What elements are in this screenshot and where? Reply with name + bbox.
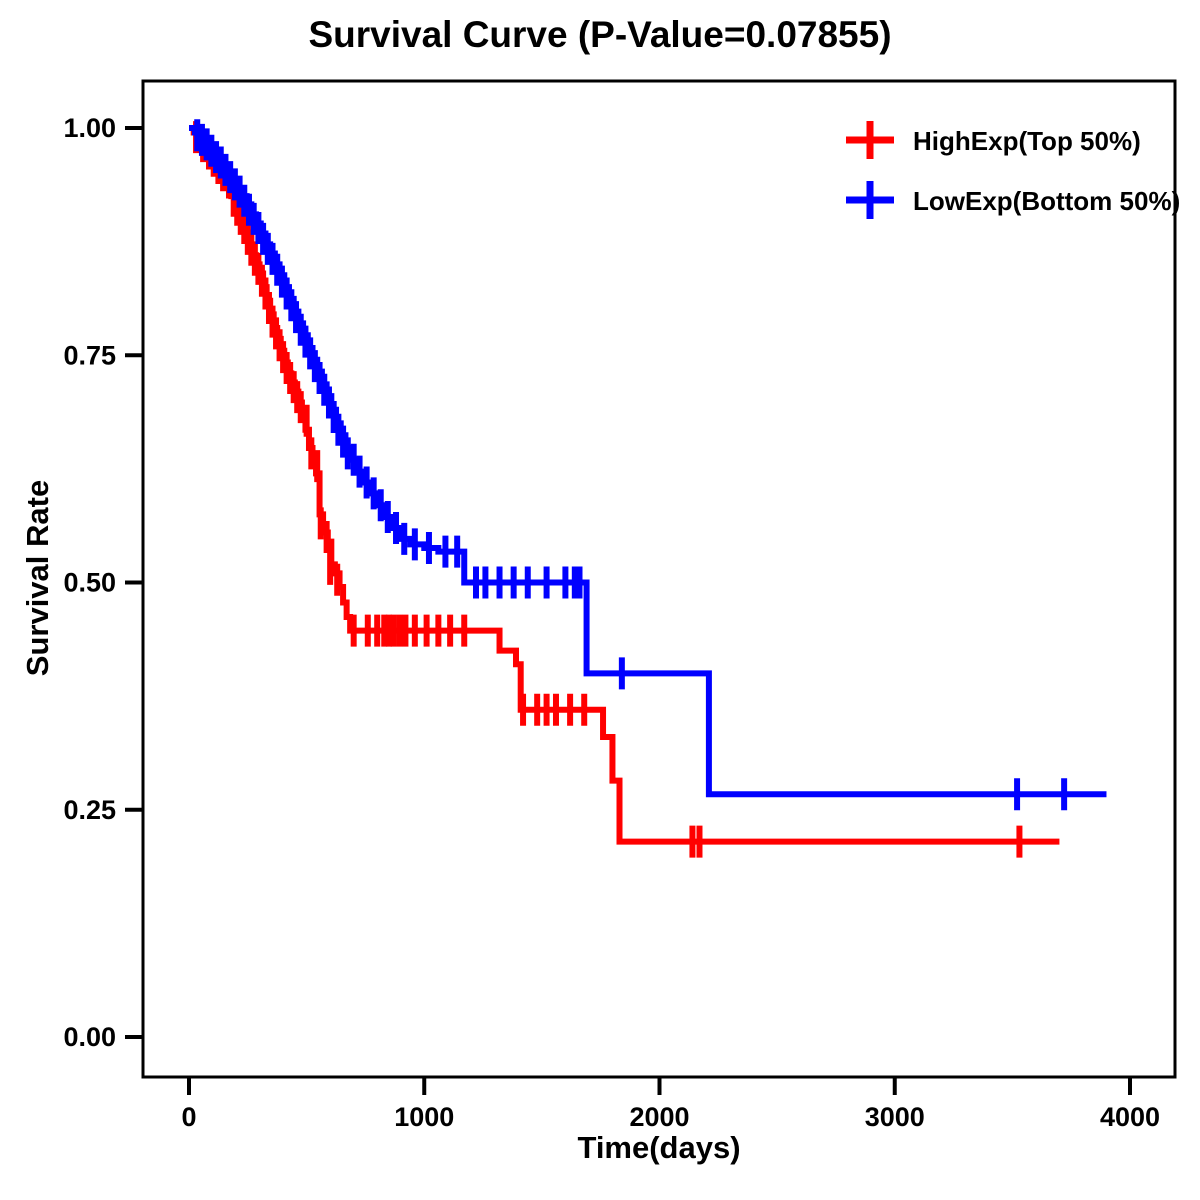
y-tick-label: 0.75 bbox=[63, 340, 116, 370]
x-tick-label: 2000 bbox=[629, 1102, 689, 1132]
y-tick-label: 0.25 bbox=[63, 795, 116, 825]
x-tick-label: 0 bbox=[181, 1102, 196, 1132]
y-tick-label: 1.00 bbox=[63, 113, 116, 143]
legend-label: HighExp(Top 50%) bbox=[913, 126, 1141, 156]
plot-area: 01000200030004000 0.000.250.500.751.00 H… bbox=[0, 0, 1200, 1200]
y-tick-label: 0.50 bbox=[63, 568, 116, 598]
legend-label: LowExp(Bottom 50%) bbox=[913, 186, 1180, 216]
x-tick-label: 4000 bbox=[1100, 1102, 1160, 1132]
survival-curve-figure: Survival Curve (P-Value=0.07855) Surviva… bbox=[0, 0, 1200, 1200]
x-tick-label: 1000 bbox=[394, 1102, 454, 1132]
y-tick-label: 0.00 bbox=[63, 1022, 116, 1052]
plot-panel-border bbox=[143, 81, 1175, 1077]
x-axis-ticks: 01000200030004000 bbox=[181, 1077, 1160, 1132]
y-axis-ticks: 0.000.250.500.751.00 bbox=[63, 113, 143, 1052]
x-tick-label: 3000 bbox=[865, 1102, 925, 1132]
